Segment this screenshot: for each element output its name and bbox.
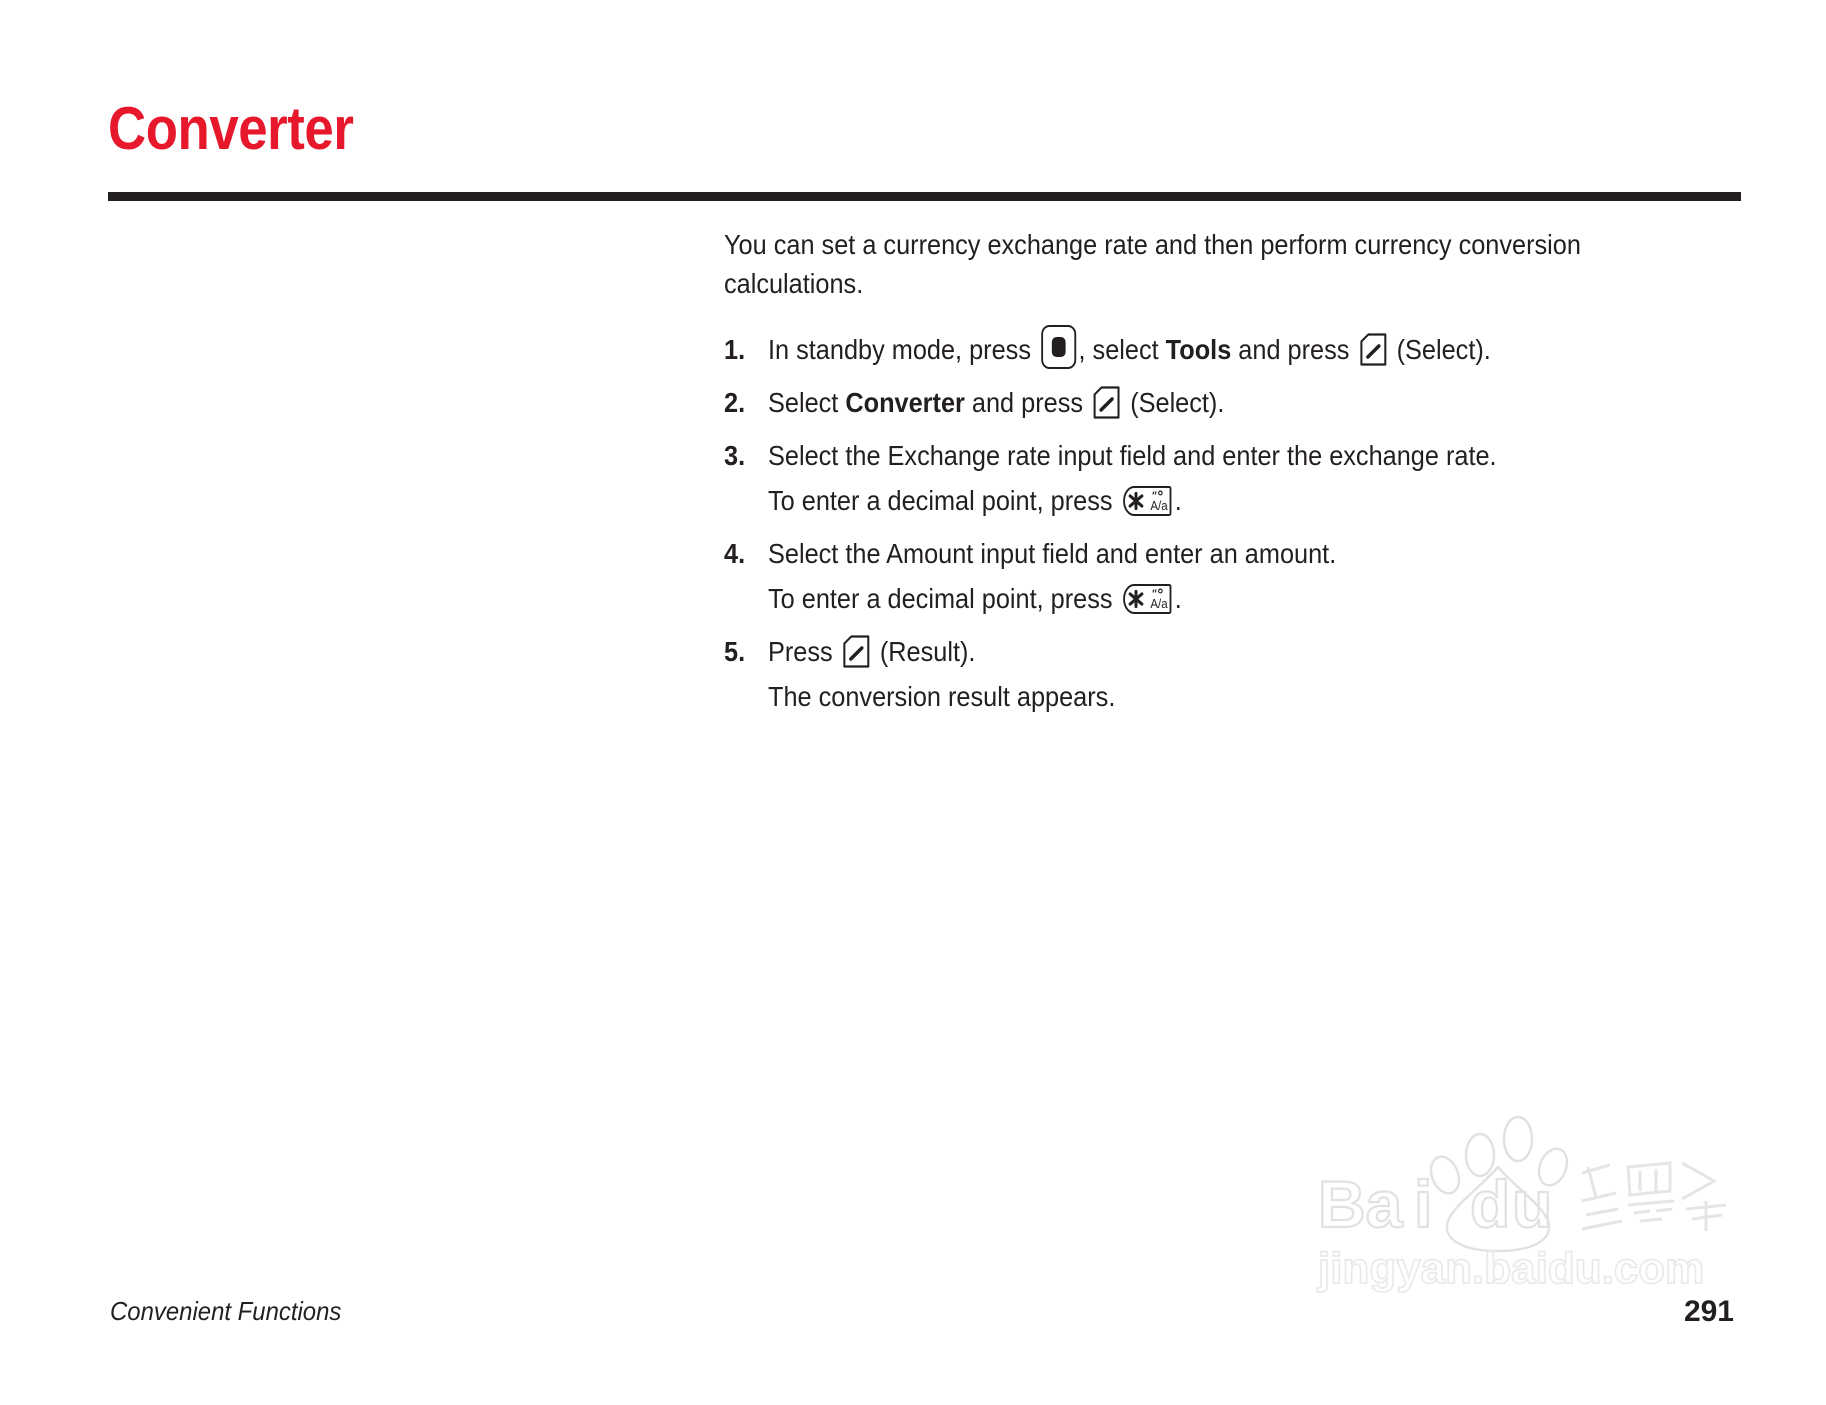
manual-page: Converter You can set a currency exchang… xyxy=(0,0,1826,1405)
svg-text:Ba: Ba xyxy=(1318,1167,1404,1241)
content-column: You can set a currency exchange rate and… xyxy=(724,225,1734,727)
step-text-lead: In standby mode, press xyxy=(768,334,1031,365)
step-number: 2. xyxy=(724,380,764,425)
intro-paragraph: You can set a currency exchange rate and… xyxy=(724,225,1727,303)
step-text-after-bold: and press xyxy=(972,387,1083,418)
step-text-bold: Tools xyxy=(1166,334,1232,365)
step-number: 5. xyxy=(724,629,764,674)
list-item: 1. In standby mode, press , select Tools… xyxy=(724,325,1734,372)
step-text-tail: (Result). xyxy=(880,636,976,667)
svg-text:i: i xyxy=(1414,1167,1432,1241)
step-text-tail: (Select). xyxy=(1397,334,1491,365)
list-item: 3. Select the Exchange rate input field … xyxy=(724,433,1734,523)
step-number: 1. xyxy=(724,327,764,372)
svg-text:jingyan.baidu.com: jingyan.baidu.com xyxy=(1317,1244,1704,1293)
svg-text:u: u xyxy=(1512,1167,1552,1241)
step-text: Press (Result). xyxy=(768,629,1657,674)
page-number: 291 xyxy=(1684,1295,1734,1329)
list-item: 4. Select the Amount input field and ent… xyxy=(724,531,1734,621)
step-text-tail: (Select). xyxy=(1130,387,1224,418)
substep-lead: To enter a decimal point, press xyxy=(768,583,1113,614)
step-text-bold: Converter xyxy=(845,387,965,418)
center-select-key-icon xyxy=(1041,325,1076,369)
left-soft-key-icon xyxy=(1093,386,1121,419)
step-substep: To enter a decimal point, press A/a. xyxy=(768,478,1657,523)
step-substep: To enter a decimal point, press A/a. xyxy=(768,576,1657,621)
step-number: 3. xyxy=(724,433,764,478)
step-text-mid: , select xyxy=(1079,334,1159,365)
left-soft-key-icon xyxy=(1359,333,1387,366)
footer-section-label: Convenient Functions xyxy=(110,1296,341,1327)
page-title: Converter xyxy=(108,96,353,162)
substep-tail: . xyxy=(1175,583,1182,614)
step-text: In standby mode, press , select Tools an… xyxy=(768,325,1657,372)
list-item: 2. Select Converter and press (Select). xyxy=(724,380,1734,425)
step-text: Select the Amount input field and enter … xyxy=(768,531,1657,576)
step-text-lead: Select xyxy=(768,387,838,418)
step-list: 1. In standby mode, press , select Tools… xyxy=(724,325,1734,719)
step-substep: The conversion result appears. xyxy=(768,674,1657,719)
svg-text:A/a: A/a xyxy=(1151,597,1169,612)
step-text-lead: Press xyxy=(768,636,833,667)
star-key-icon: A/a xyxy=(1122,485,1172,517)
step-number: 4. xyxy=(724,531,764,576)
list-item: 5. Press (Result). The conversion result… xyxy=(724,629,1734,719)
step-text: Select Converter and press (Select). xyxy=(768,380,1657,425)
star-key-icon: A/a xyxy=(1122,583,1172,615)
baidu-watermark: Ba i d u jingyan.baidu.com xyxy=(1310,1105,1740,1305)
left-soft-key-icon xyxy=(842,635,870,668)
substep-tail: . xyxy=(1175,485,1182,516)
substep-lead: To enter a decimal point, press xyxy=(768,485,1113,516)
header-divider xyxy=(108,192,1741,201)
step-text: Select the Exchange rate input field and… xyxy=(768,433,1657,478)
step-text-after-bold: and press xyxy=(1238,334,1349,365)
svg-text:A/a: A/a xyxy=(1151,499,1169,514)
svg-text:d: d xyxy=(1470,1167,1510,1241)
